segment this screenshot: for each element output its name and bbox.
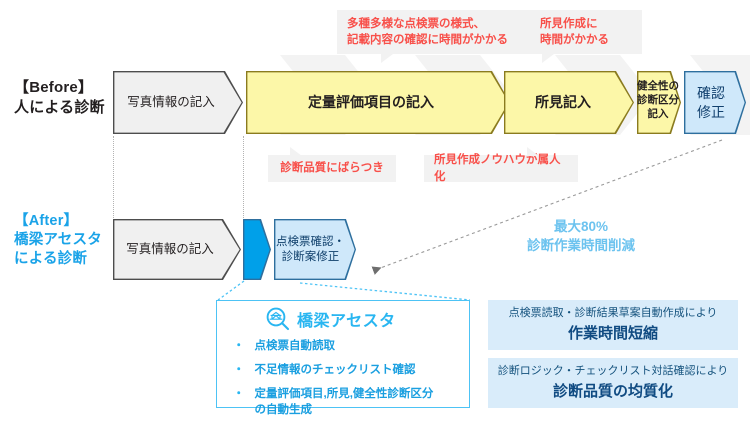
pain-point-findings-time-text: 所見作成に 時間がかかる (540, 16, 609, 49)
before-step-soundness-class-label: 健全性の 診断区分 記入 (630, 80, 686, 122)
list-bullet: ・ (233, 339, 245, 355)
list-item: ・ 定量評価項目,所見,健全性診断区分 の自動生成 (233, 387, 463, 419)
benefit-quality-sub: 診断ロジック・チェックリスト対話確認により (498, 364, 729, 379)
before-step-confirm-correct-label: 確認 修正 (684, 71, 746, 134)
pain-point-knowhow-siloed-text: 所見作成ノウハウが属人化 (434, 152, 568, 185)
product-title-row: 橋梁アセスタ (265, 306, 396, 332)
pain-point-knowhow-siloed-tail (527, 147, 539, 156)
pain-point-form-variety-tail (381, 54, 393, 63)
list-bullet: ・ (233, 363, 245, 379)
pain-point-form-variety: 多種多様な点検票の様式、 記載内容の確認に時間がかかる (337, 10, 533, 54)
pain-point-quality-variance: 診断品質にばらつき (268, 155, 396, 182)
before-step-confirm-correct[interactable]: 確認 修正 (684, 71, 746, 134)
pain-point-form-variety-text: 多種多様な点検票の様式、 記載内容の確認に時間がかかる (347, 16, 508, 49)
guide-left (113, 136, 114, 220)
before-step-findings-entry-label: 所見記入 (504, 71, 634, 134)
before-step-findings-entry[interactable]: 所見記入 (504, 71, 634, 134)
product-feature-0: 点検票自動読取 (255, 339, 336, 355)
pain-point-findings-time: 所見作成に 時間がかかる (530, 10, 642, 54)
benefit-quality-main: 診断品質の均質化 (553, 381, 673, 402)
product-feature-1: 不足情報のチェックリスト確認 (255, 363, 416, 379)
before-step-quant-eval[interactable]: 定量評価項目の記入 (246, 71, 510, 134)
time-reduction-note: 最大80% 診断作業時間削減 (486, 218, 676, 255)
list-item: ・ 不足情報のチェックリスト確認 (233, 363, 463, 379)
before-step-quant-eval-label: 定量評価項目の記入 (246, 71, 510, 134)
pain-point-quality-variance-text: 診断品質にばらつき (280, 160, 384, 176)
chevron-fill (244, 220, 269, 278)
product-title-text: 橋梁アセスタ (297, 307, 396, 331)
product-feature-2: 定量評価項目,所見,健全性診断区分 の自動生成 (255, 387, 434, 419)
pain-point-knowhow-siloed: 所見作成ノウハウが属人化 (424, 155, 578, 182)
list-item: ・ 点検票自動読取 (233, 339, 463, 355)
after-step-asesuta-auto[interactable] (243, 219, 271, 280)
benefit-time: 点検票読取・診断結果草案自動作成により 作業時間短縮 (488, 300, 738, 350)
pain-point-findings-time-tail (542, 54, 554, 63)
after-step-photo-entry-label: 写真情報の記入 (113, 219, 241, 280)
guide-right (243, 136, 244, 220)
bridge-magnifier-icon (265, 306, 291, 332)
row-label-before: 【Before】 人による診断 (14, 78, 114, 118)
before-step-photo-entry[interactable]: 写真情報の記入 (113, 71, 243, 134)
before-step-photo-entry-label: 写真情報の記入 (113, 71, 243, 134)
product-feature-list: ・ 点検票自動読取 ・ 不足情報のチェックリスト確認 ・ 定量評価項目,所見,健… (233, 339, 463, 418)
after-step-check-correct-label: 点検票確認・ 診断案修正 (274, 219, 356, 280)
product-callout-box: 橋梁アセスタ ・ 点検票自動読取 ・ 不足情報のチェックリスト確認 ・ 定量評価… (216, 300, 470, 408)
row-label-after: 【After】 橋梁アセスタ による診断 (14, 212, 118, 269)
after-step-photo-entry[interactable]: 写真情報の記入 (113, 219, 241, 280)
pain-point-quality-variance-tail (290, 147, 302, 156)
benefit-time-sub: 点検票読取・診断結果草案自動作成により (509, 306, 718, 321)
after-step-check-correct[interactable]: 点検票確認・ 診断案修正 (274, 219, 356, 280)
benefit-quality: 診断ロジック・チェックリスト対話確認により 診断品質の均質化 (488, 358, 738, 408)
list-bullet: ・ (233, 387, 245, 419)
benefit-time-main: 作業時間短縮 (568, 323, 658, 344)
